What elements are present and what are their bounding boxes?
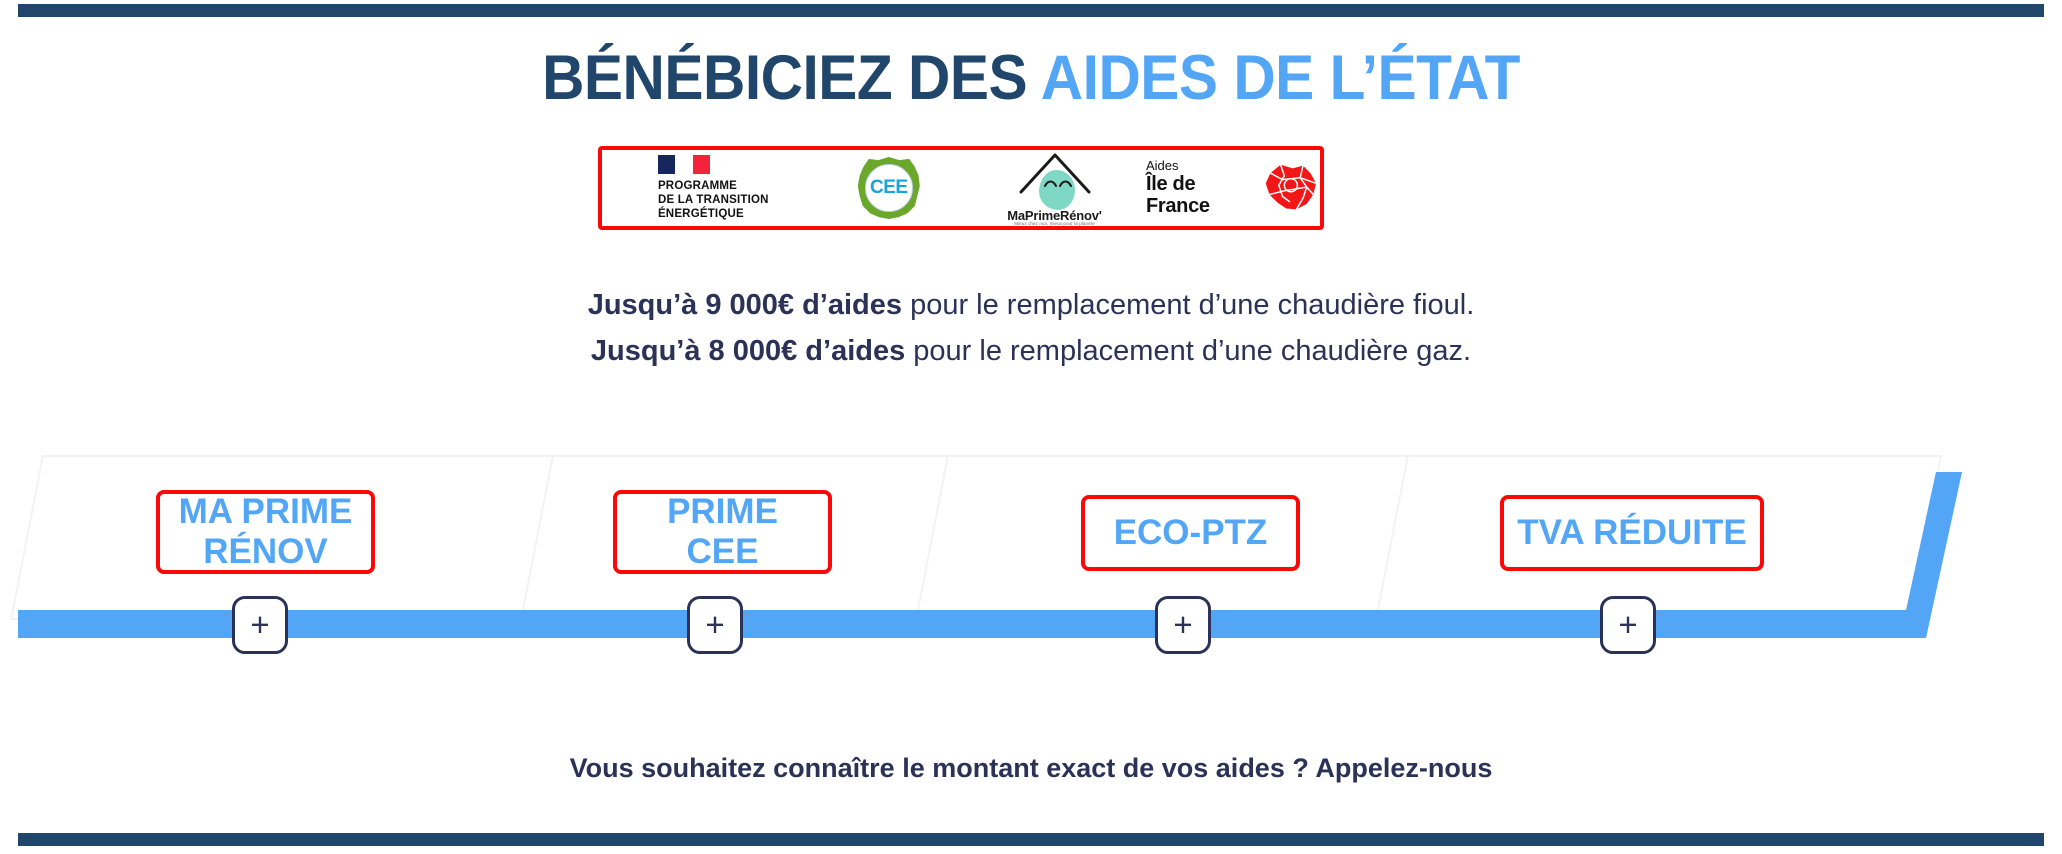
- aid-amount-line-2: Jusqu’à 8 000€ d’aides pour le remplacem…: [0, 328, 2062, 374]
- idf-line-1: Aides: [1146, 159, 1256, 173]
- expand-button-tva-reduite[interactable]: +: [1600, 596, 1656, 654]
- pte-line-1: PROGRAMME: [658, 179, 769, 193]
- smiling-eyes-icon: [1044, 179, 1072, 189]
- logo-aides-ile-de-france: Aides Île de France: [1146, 150, 1320, 226]
- aid-box-ma-prime-renov[interactable]: MA PRIME RÉNOV: [156, 490, 375, 574]
- idf-line-2: Île de France: [1146, 173, 1256, 217]
- top-navy-rule: [18, 4, 2044, 17]
- aid-amount-line-1: Jusqu’à 9 000€ d’aides pour le remplacem…: [0, 282, 2062, 328]
- aid-box-tva-reduite[interactable]: TVA RÉDUITE: [1500, 495, 1764, 571]
- aid-amount-line-2-bold: Jusqu’à 8 000€ d’aides: [591, 335, 905, 367]
- logo-programme-transition-energetique: PROGRAMME DE LA TRANSITION ÉNERGÉTIQUE: [602, 150, 815, 226]
- aid-amount-lines: Jusqu’à 9 000€ d’aides pour le remplacem…: [0, 282, 2062, 375]
- aid-amount-line-1-rest: pour le remplacement d’une chaudière fio…: [902, 289, 1474, 321]
- cee-label: CEE: [870, 177, 908, 199]
- expand-button-ma-prime-renov[interactable]: +: [232, 596, 288, 654]
- partner-logo-strip: PROGRAMME DE LA TRANSITION ÉNERGÉTIQUE C…: [598, 146, 1324, 230]
- bottom-navy-rule: [18, 833, 2044, 846]
- aid-box-prime-cee[interactable]: PRIME CEE: [613, 490, 832, 574]
- call-to-action-text: Vous souhaitez connaître le montant exac…: [0, 753, 2062, 784]
- smiley-blob-icon: [1039, 170, 1075, 210]
- aid-amount-line-1-bold: Jusqu’à 9 000€ d’aides: [588, 289, 902, 321]
- aid-box-eco-ptz[interactable]: ECO-PTZ: [1081, 495, 1300, 571]
- pte-line-3: ÉNERGÉTIQUE: [658, 207, 769, 221]
- french-flag-icon: [658, 155, 710, 174]
- ile-de-france-map-icon: [1262, 161, 1320, 215]
- expand-button-prime-cee[interactable]: +: [687, 596, 743, 654]
- maprimerenov-tagline: Mieux chez moi, mieux pour la planète: [991, 221, 1117, 226]
- page-title-part2: AIDES DE L’ÉTAT: [1041, 43, 1520, 113]
- page-title-part1: BÉNÉBICIEZ DES: [542, 43, 1041, 113]
- logo-maprimerenov: MaPrimeRénov' Mieux chez moi, mieux pour…: [963, 150, 1146, 226]
- aid-amount-line-2-rest: pour le remplacement d’une chaudière gaz…: [905, 335, 1471, 367]
- pte-line-2: DE LA TRANSITION: [658, 193, 769, 207]
- expand-button-eco-ptz[interactable]: +: [1155, 596, 1211, 654]
- logo-cee: CEE: [815, 150, 963, 226]
- page-title: BÉNÉBICIEZ DES AIDES DE L’ÉTAT: [72, 42, 1990, 114]
